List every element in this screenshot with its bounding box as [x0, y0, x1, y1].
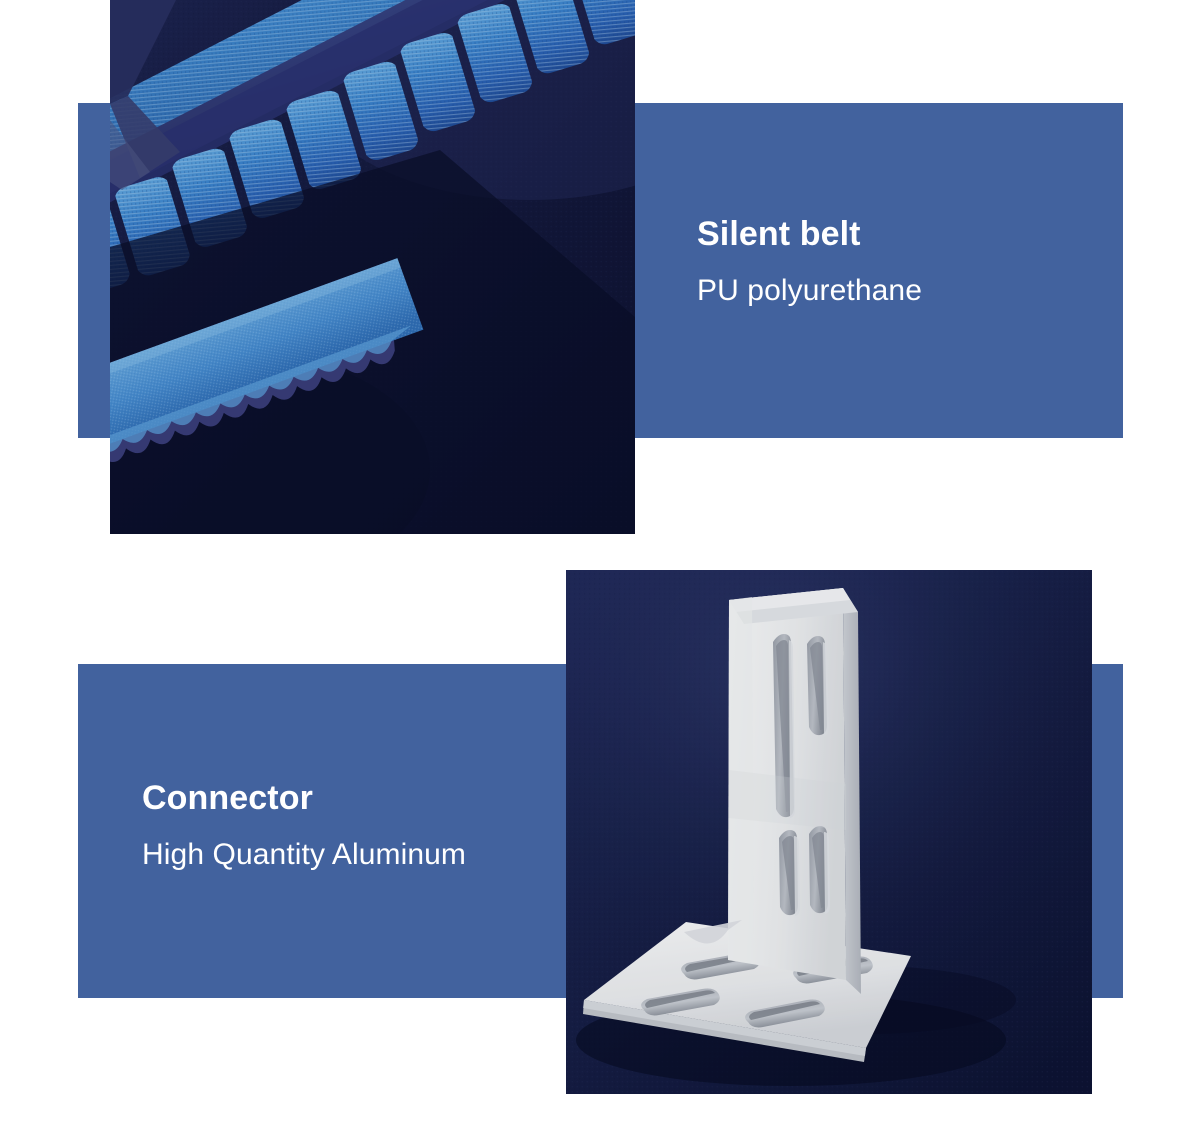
product-photo-connector [566, 570, 1092, 1094]
belt-photo-illustration [110, 0, 635, 534]
feature-text-connector: Connector High Quantity Aluminum [142, 778, 466, 874]
feature-title-silent-belt: Silent belt [697, 214, 922, 254]
feature-title-connector: Connector [142, 778, 466, 818]
feature-subtitle-connector: High Quantity Aluminum [142, 836, 466, 874]
feature-text-silent-belt: Silent belt PU polyurethane [697, 214, 922, 310]
product-photo-silent-belt [110, 0, 635, 534]
infographic-page: Silent belt PU polyurethane Connector Hi… [0, 0, 1200, 1128]
bracket-photo-illustration [566, 570, 1092, 1094]
feature-subtitle-silent-belt: PU polyurethane [697, 272, 922, 310]
